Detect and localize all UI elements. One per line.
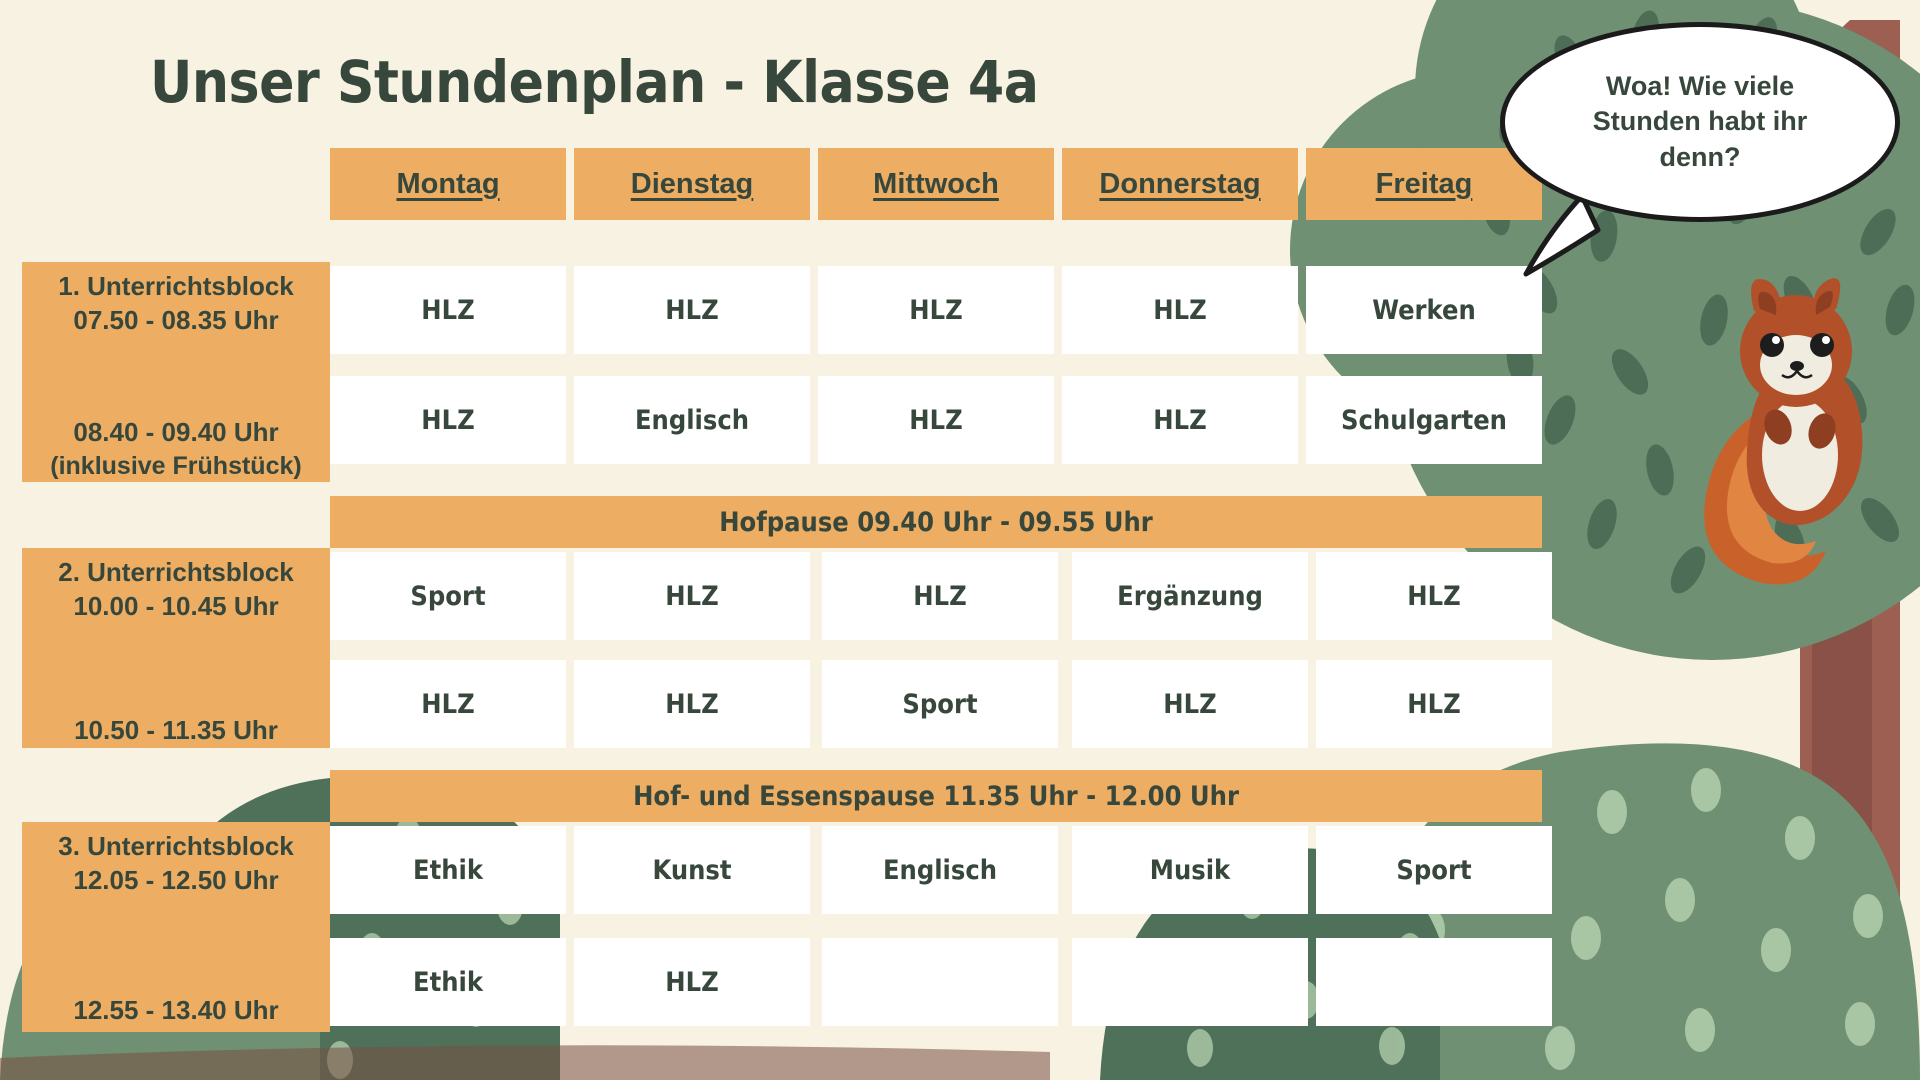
subject-label: HLZ	[665, 295, 718, 326]
time-row-label: 12.55 - 13.40 Uhr	[73, 994, 278, 1028]
subject-cell[interactable]: Sport	[330, 552, 566, 640]
subject-label: HLZ	[909, 405, 962, 436]
subject-label: HLZ	[421, 689, 474, 720]
subject-cell[interactable]: HLZ	[574, 938, 810, 1026]
subject-cell[interactable]: Ethik	[330, 826, 566, 914]
time-block-2: 2. Unterrichtsblock 10.00 - 10.45 Uhr 10…	[22, 548, 330, 748]
subject-cell[interactable]: Sport	[1316, 826, 1552, 914]
time-row-label: 08.40 - 09.40 Uhr	[73, 416, 278, 450]
page-title: Unser Stundenplan - Klasse 4a	[150, 48, 1038, 116]
subject-label: HLZ	[421, 405, 474, 436]
subject-label: HLZ	[665, 581, 718, 612]
time-row-label: 10.00 - 10.45 Uhr	[73, 590, 278, 624]
subject-label: HLZ	[1163, 689, 1216, 720]
subject-label: Sport	[902, 689, 977, 720]
subject-label: Sport	[410, 581, 485, 612]
subject-label: Englisch	[883, 855, 997, 886]
subject-label: Sport	[1396, 855, 1471, 886]
subject-cell[interactable]: HLZ	[822, 552, 1058, 640]
subject-cell[interactable]: Ethik	[330, 938, 566, 1026]
subject-cell[interactable]: Sport	[822, 660, 1058, 748]
subject-cell-empty[interactable]	[822, 938, 1058, 1026]
day-header-freitag: Freitag	[1306, 148, 1542, 220]
subject-cell[interactable]: HLZ	[330, 660, 566, 748]
day-header-mittwoch: Mittwoch	[818, 148, 1054, 220]
subject-cell[interactable]: Kunst	[574, 826, 810, 914]
speech-bubble-text: Woa! Wie viele Stunden habt ihr denn?	[1575, 69, 1825, 176]
subject-cell-empty[interactable]	[1316, 938, 1552, 1026]
day-header-label: Dienstag	[631, 168, 753, 201]
time-row-note: (inklusive Frühstück)	[50, 450, 301, 483]
subject-label: HLZ	[1407, 581, 1460, 612]
time-block-1: 1. Unterrichtsblock 07.50 - 08.35 Uhr 08…	[22, 262, 330, 482]
time-row-label: 10.50 - 11.35 Uhr	[74, 714, 278, 748]
subject-cell[interactable]: HLZ	[1062, 376, 1298, 464]
subject-label: HLZ	[1153, 295, 1206, 326]
day-header-label: Freitag	[1376, 168, 1473, 201]
subject-label: HLZ	[665, 689, 718, 720]
subject-cell[interactable]: Englisch	[822, 826, 1058, 914]
subject-cell[interactable]: Schulgarten	[1306, 376, 1542, 464]
subject-label: Schulgarten	[1341, 405, 1507, 436]
subject-label: HLZ	[909, 295, 962, 326]
day-header-montag: Montag	[330, 148, 566, 220]
subject-cell[interactable]: HLZ	[330, 266, 566, 354]
subject-cell[interactable]: Musik	[1072, 826, 1308, 914]
subject-label: HLZ	[421, 295, 474, 326]
subject-cell[interactable]: HLZ	[1316, 660, 1552, 748]
day-header-dienstag: Dienstag	[574, 148, 810, 220]
subject-cell[interactable]: HLZ	[1072, 660, 1308, 748]
break-bar-hofpause: Hofpause 09.40 Uhr - 09.55 Uhr	[330, 496, 1542, 548]
subject-label: Ethik	[413, 967, 483, 998]
time-row-label: 12.05 - 12.50 Uhr	[73, 864, 278, 898]
subject-cell[interactable]: Werken	[1306, 266, 1542, 354]
subject-cell[interactable]: Englisch	[574, 376, 810, 464]
subject-label: HLZ	[665, 967, 718, 998]
subject-cell[interactable]: HLZ	[574, 660, 810, 748]
subject-label: HLZ	[1153, 405, 1206, 436]
day-header-donnerstag: Donnerstag	[1062, 148, 1298, 220]
time-block-3: 3. Unterrichtsblock 12.05 - 12.50 Uhr 12…	[22, 822, 330, 1032]
day-header-label: Donnerstag	[1099, 168, 1260, 201]
time-block-label: 1. Unterrichtsblock	[58, 270, 294, 304]
break-label: Hof- und Essenspause 11.35 Uhr - 12.00 U…	[633, 781, 1239, 812]
subject-cell[interactable]: HLZ	[1316, 552, 1552, 640]
subject-cell[interactable]: HLZ	[1062, 266, 1298, 354]
subject-label: Ethik	[413, 855, 483, 886]
break-bar-essenspause: Hof- und Essenspause 11.35 Uhr - 12.00 U…	[330, 770, 1542, 822]
subject-cell[interactable]: Ergänzung	[1072, 552, 1308, 640]
subject-label: Werken	[1372, 295, 1476, 326]
subject-label: Kunst	[652, 855, 731, 886]
time-block-label: 2. Unterrichtsblock	[58, 556, 294, 590]
day-header-label: Montag	[396, 168, 499, 201]
subject-label: HLZ	[1407, 689, 1460, 720]
subject-cell[interactable]: HLZ	[818, 376, 1054, 464]
subject-label: Musik	[1150, 855, 1230, 886]
subject-cell[interactable]: HLZ	[574, 552, 810, 640]
subject-cell[interactable]: HLZ	[574, 266, 810, 354]
day-header-label: Mittwoch	[873, 168, 999, 201]
subject-cell-empty[interactable]	[1072, 938, 1308, 1026]
subject-label: Englisch	[635, 405, 749, 436]
subject-label: Ergänzung	[1117, 581, 1263, 612]
time-block-label: 3. Unterrichtsblock	[58, 830, 294, 864]
time-row-label: 07.50 - 08.35 Uhr	[73, 304, 278, 338]
subject-cell[interactable]: HLZ	[330, 376, 566, 464]
subject-label: HLZ	[913, 581, 966, 612]
speech-bubble: Woa! Wie viele Stunden habt ihr denn?	[1500, 22, 1900, 222]
break-label: Hofpause 09.40 Uhr - 09.55 Uhr	[719, 507, 1153, 538]
subject-cell[interactable]: HLZ	[818, 266, 1054, 354]
